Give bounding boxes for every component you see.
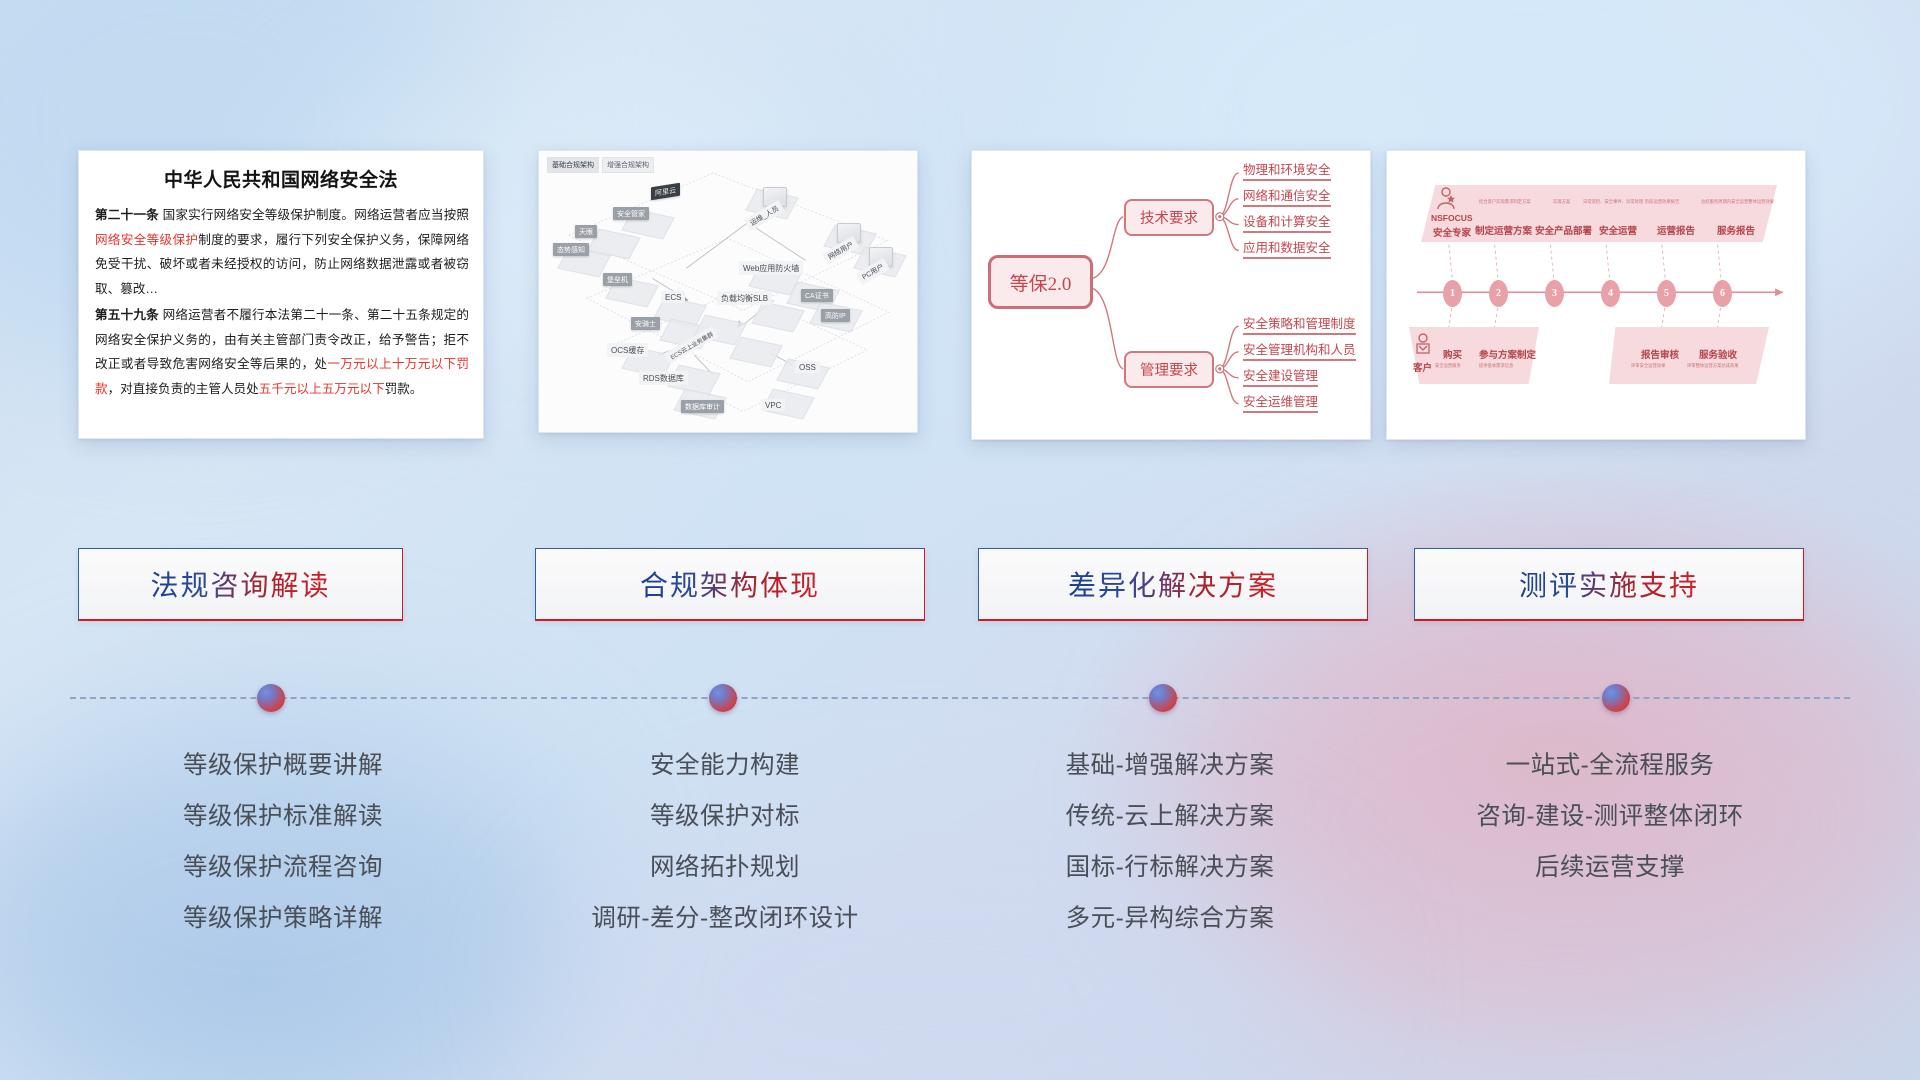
node-label-ecs: ECS	[661, 291, 685, 303]
heading-box-regulation-consulting[interactable]: 法规咨询解读	[78, 548, 403, 621]
article-21-label: 第二十一条	[95, 208, 159, 222]
process-timeline	[0, 680, 1920, 720]
card-mindmap: 等保2.0 技术要求 管理要求 物理和环境安全 网络和通信安全 设备和计算安全 …	[971, 150, 1371, 440]
article-59-label: 第五十九条	[95, 308, 159, 322]
top-step-title: 安全运营	[1599, 223, 1637, 237]
mindmap-root-node: 等保2.0	[988, 255, 1093, 309]
timeline-step-number: 2	[1489, 280, 1508, 307]
list-item: 等级保护标准解读	[78, 791, 488, 842]
article-21-text-a: 国家实行网络安全等级保护制度。网络运营者应当按照	[159, 208, 469, 222]
article-59-text-b: ，对直接负责的主管人员处	[108, 382, 259, 396]
bottom-step-title: 服务验收	[1699, 347, 1737, 361]
bottom-step-title: 参与方案制定	[1479, 347, 1536, 361]
bottom-step-sub: 安全运营服务	[1435, 363, 1461, 369]
top-step-title: 制定运营方案	[1475, 223, 1532, 237]
list-item: 网络拓扑规划	[520, 842, 930, 893]
node-label-tianyan: 天眼	[575, 225, 597, 238]
list-item: 多元-异构综合方案	[965, 893, 1375, 944]
top-step-sub: 阶段运营效果报告	[1645, 199, 1679, 205]
top-step-title: 服务报告	[1717, 223, 1755, 237]
list-item: 后续运营支撑	[1405, 842, 1815, 893]
list-item: 一站式-全流程服务	[1405, 740, 1815, 791]
node-label-oss: OSS	[795, 361, 820, 373]
detail-list-compliance-architecture: 安全能力构建 等级保护对标 网络拓扑规划 调研-差分-整改闭环设计	[520, 740, 930, 944]
heading-box-evaluation-support[interactable]: 测评实施支持	[1414, 548, 1804, 621]
law-article-59: 第五十九条 网络运营者不履行本法第二十一条、第二十五条规定的网络安全保护义务的，…	[95, 303, 469, 401]
list-item: 等级保护流程咨询	[78, 842, 488, 893]
mindmap-leaf: 物理和环境安全	[1243, 159, 1331, 181]
bottom-step-sub: 提供基本需求信息	[1479, 363, 1513, 369]
heading-label: 差异化解决方案	[1068, 564, 1278, 604]
customer-icon	[1413, 333, 1433, 357]
card-cloud-architecture: 基础合规架构 增强合规架构	[538, 150, 918, 433]
list-item: 等级保护概要讲解	[78, 740, 488, 791]
architecture-diagram: 基础合规架构 增强合规架构	[539, 151, 917, 432]
top-step-sub: 结合客户实际需求制定方案	[1479, 199, 1531, 205]
mindmap-branch-management: 管理要求	[1124, 351, 1214, 388]
mindmap-leaf: 应用和数据安全	[1243, 237, 1331, 259]
heading-box-differentiated-solution[interactable]: 差异化解决方案	[978, 548, 1368, 621]
mindmap-branch-technical: 技术要求	[1124, 199, 1214, 236]
bottom-step-sub: 评审整体运营方案达成效果	[1687, 363, 1739, 369]
timeline-marker-dot	[257, 684, 285, 712]
node-label-ocs-cache: OCS缓存	[607, 343, 648, 357]
top-step-title: 安全产品部署	[1535, 223, 1592, 237]
service-timeline: NSFOCUS 安全专家 客户 结合客户实际需求制定方案 制定运营方案 实现方案…	[1387, 151, 1805, 439]
list-item: 等级保护策略详解	[78, 893, 488, 944]
timeline-step-number: 1	[1443, 280, 1462, 307]
mindmap-leaf: 设备和计算安全	[1243, 211, 1331, 233]
law-title: 中华人民共和国网络安全法	[79, 165, 483, 192]
expert-role: 安全专家	[1433, 225, 1471, 239]
detail-list-regulation-consulting: 等级保护概要讲解 等级保护标准解读 等级保护流程咨询 等级保护策略详解	[78, 740, 488, 944]
bottom-step-sub: 评审安全运营效果	[1631, 363, 1665, 369]
card-service-timeline: NSFOCUS 安全专家 客户 结合客户实际需求制定方案 制定运营方案 实现方案…	[1386, 150, 1806, 440]
detail-list-evaluation-support: 一站式-全流程服务 咨询-建设-测评整体闭环 后续运营支撑	[1405, 740, 1815, 893]
heading-label: 合规架构体现	[640, 564, 820, 604]
card-cybersecurity-law: 中华人民共和国网络安全法 第二十一条 国家实行网络安全等级保护制度。网络运营者应…	[78, 150, 484, 439]
list-item: 传统-云上解决方案	[965, 791, 1375, 842]
heading-row: 法规咨询解读 合规架构体现 差异化解决方案 测评实施支持	[0, 548, 1920, 623]
node-label-anqishi: 安骑士	[631, 317, 660, 330]
mindmap-leaf: 网络和通信安全	[1243, 185, 1331, 207]
expert-brand: NSFOCUS	[1431, 213, 1473, 223]
bottom-step-title: 报告审核	[1641, 347, 1679, 361]
mindmap-leaf: 安全建设管理	[1243, 365, 1318, 387]
bottom-step-title: 购买	[1443, 347, 1462, 361]
node-label-db-audit: 数据库审计	[681, 400, 724, 413]
list-item: 安全能力构建	[520, 740, 930, 791]
timeline-step-number: 5	[1657, 280, 1676, 307]
card-row: 中华人民共和国网络安全法 第二十一条 国家实行网络安全等级保护制度。网络运营者应…	[0, 150, 1920, 450]
timeline-marker-dot	[709, 684, 737, 712]
node-label-slb: 负载均衡SLB	[717, 291, 772, 305]
list-item: 等级保护对标	[520, 791, 930, 842]
mindmap-leaf: 安全管理机构和人员	[1243, 339, 1356, 361]
customer-role: 客户	[1413, 360, 1432, 374]
security-expert-icon	[1435, 187, 1457, 211]
detail-list-differentiated-solution: 基础-增强解决方案 传统-云上解决方案 国标-行标解决方案 多元-异构综合方案	[965, 740, 1375, 944]
timeline-dashed-line	[70, 697, 1850, 699]
mindmap: 等保2.0 技术要求 管理要求 物理和环境安全 网络和通信安全 设备和计算安全 …	[972, 151, 1370, 439]
timeline-marker-dot	[1149, 684, 1177, 712]
article-21-highlight: 网络安全等级保护	[95, 233, 198, 247]
article-59-text-c: 罚款。	[385, 382, 423, 396]
node-label-situational-awareness: 态势感知	[553, 243, 589, 256]
node-label-waf: Web应用防火墙	[739, 261, 803, 275]
top-step-title: 运营报告	[1657, 223, 1695, 237]
node-label-vpc: VPC	[761, 399, 785, 411]
heading-label: 测评实施支持	[1519, 564, 1699, 604]
heading-label: 法规咨询解读	[150, 564, 330, 604]
mindmap-leaf: 安全运维管理	[1243, 391, 1318, 413]
node-label-rds-database: RDS数据库	[639, 371, 688, 385]
article-59-highlight-2: 五千元以上五万元以下	[259, 382, 385, 396]
law-body: 第二十一条 国家实行网络安全等级保护制度。网络运营者应当按照网络安全等级保护制度…	[79, 203, 483, 401]
node-label-anti-ddos-ip: 高防IP	[821, 309, 850, 322]
top-step-sub: 实现方案	[1553, 199, 1570, 205]
timeline-step-number: 6	[1713, 280, 1732, 307]
list-item: 国标-行标解决方案	[965, 842, 1375, 893]
detail-list-row: 等级保护概要讲解 等级保护标准解读 等级保护流程咨询 等级保护策略详解 安全能力…	[0, 740, 1920, 970]
list-item: 调研-差分-整改闭环设计	[520, 893, 930, 944]
timeline-step-number: 3	[1545, 280, 1564, 307]
node-label-bastion-host: 堡垒机	[603, 273, 632, 286]
node-label-security-housekeeper: 安全管家	[613, 207, 649, 220]
timeline-band-customer-right	[1609, 327, 1769, 384]
timeline-marker-dot	[1602, 684, 1630, 712]
list-item: 咨询-建设-测评整体闭环	[1405, 791, 1815, 842]
law-article-21: 第二十一条 国家实行网络安全等级保护制度。网络运营者应当按照网络安全等级保护制度…	[95, 203, 469, 301]
top-step-sub: 日常巡检、安全事件、异常处理	[1583, 199, 1643, 205]
node-label-ca-certificate: CA证书	[801, 289, 833, 302]
mindmap-leaf: 安全策略和管理制度	[1243, 313, 1356, 335]
timeline-step-number: 4	[1601, 280, 1620, 307]
heading-box-compliance-architecture[interactable]: 合规架构体现	[535, 548, 925, 621]
list-item: 基础-增强解决方案	[965, 740, 1375, 791]
top-step-sub: 总结服务周期内安全运营整体运营效果	[1701, 199, 1774, 205]
